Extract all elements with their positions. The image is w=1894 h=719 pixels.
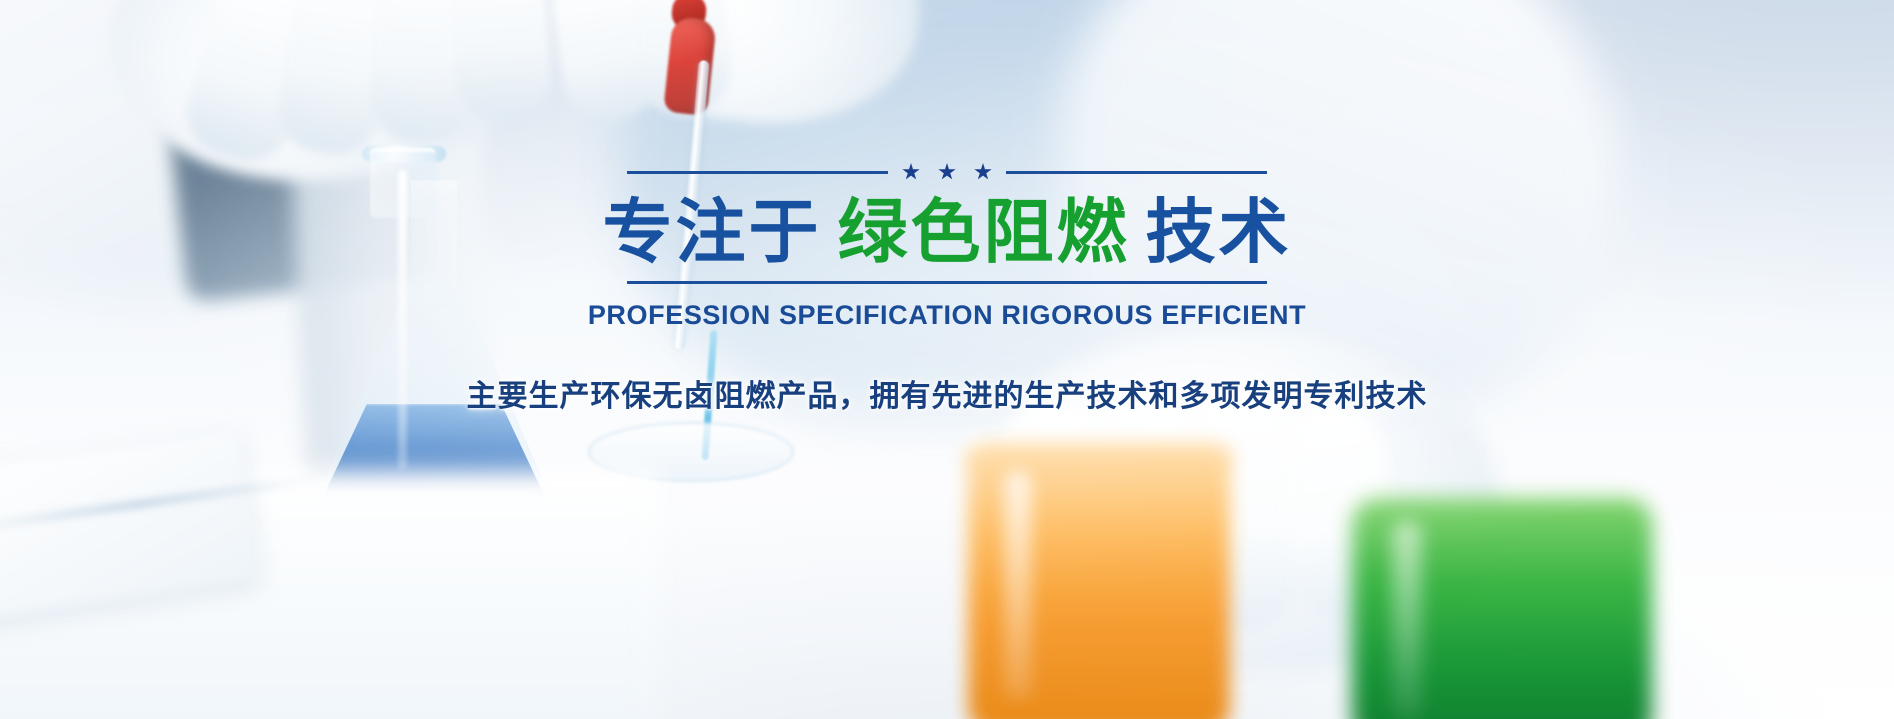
star-group — [902, 163, 992, 181]
tagline-chinese: 主要生产环保无卤阻燃产品，拥有先进的生产技术和多项发明专利技术 — [467, 371, 1428, 415]
banner-content: 专注于 绿色阻燃 技术 PROFESSION SPECIFICATION RIG… — [0, 0, 1894, 719]
headline-part-focus: 专注于 — [603, 195, 822, 271]
star-icon — [938, 163, 956, 181]
divider-rule-right — [1006, 171, 1267, 174]
headline-part-green-fr: 绿色阻燃 — [838, 195, 1130, 271]
top-divider — [627, 163, 1267, 181]
divider-rule-left — [627, 171, 888, 174]
star-icon — [974, 163, 992, 181]
star-icon — [902, 163, 920, 181]
headline-part-technology: 技术 — [1146, 195, 1292, 271]
headline: 专注于 绿色阻燃 技术 — [603, 195, 1292, 271]
subtitle-english: PROFESSION SPECIFICATION RIGOROUS EFFICI… — [588, 300, 1306, 331]
promo-banner: 专注于 绿色阻燃 技术 PROFESSION SPECIFICATION RIG… — [0, 0, 1894, 719]
bottom-divider — [627, 281, 1267, 284]
